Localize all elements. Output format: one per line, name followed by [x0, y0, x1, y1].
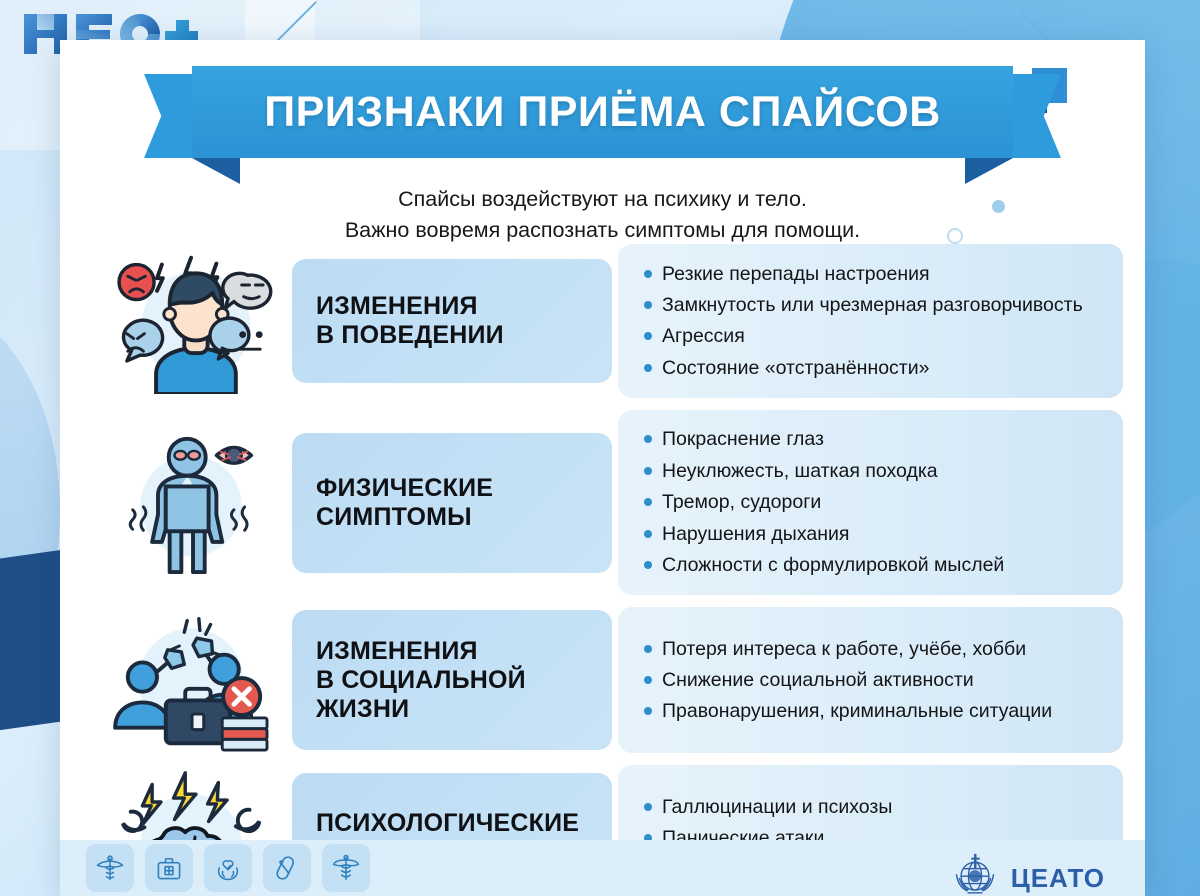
list-item-text: Замкнутость или чрезмерная разговорчивос… [662, 291, 1083, 319]
list-item: Неуклюжесть, шаткая походка [644, 455, 1105, 486]
list-item-text: Снижение социальной активности [662, 666, 974, 694]
list-item-text: Резкие перепады настроения [662, 260, 930, 288]
subtitle: Спайсы воздействуют на психику и тело. В… [60, 184, 1145, 245]
bullet-dot-icon [644, 803, 652, 811]
who-emblem-icon [949, 852, 1001, 896]
items-box-social: Потеря интереса к работе, учёбе, хобби С… [618, 607, 1123, 753]
section-row-behaviour: ИЗМЕНЕНИЯ В ПОВЕДЕНИИ Резкие перепады на… [96, 244, 1123, 398]
list-item-text: Тремор, судороги [662, 488, 821, 516]
footer-icon-strip [86, 844, 370, 892]
bullet-dot-icon [644, 467, 652, 475]
category-box-physical: ФИЗИЧЕСКИЕ СИМПТОМЫ [292, 433, 612, 573]
bullet-dot-icon [644, 707, 652, 715]
capsule-pill-icon [263, 844, 311, 892]
bullet-dot-icon [644, 270, 652, 278]
list-item: Состояние «отстранённости» [644, 352, 1105, 383]
list-item: Замкнутость или чрезмерная разговорчивос… [644, 289, 1105, 320]
broken-social-link-briefcase-icon [96, 607, 292, 753]
bullet-dot-icon [644, 645, 652, 653]
infographic-card: ПРИЗНАКИ ПРИЁМА СПАЙСОВ Спайсы воздейств… [60, 40, 1145, 896]
trembling-figure-red-eye-icon [96, 430, 292, 576]
bullet-dot-icon [644, 561, 652, 569]
list-item-text: Агрессия [662, 322, 745, 350]
subtitle-line-2: Важно вовремя распознать симптомы для по… [60, 215, 1145, 246]
sections-list: ИЗМЕНЕНИЯ В ПОВЕДЕНИИ Резкие перепады на… [96, 244, 1123, 896]
list-item-text: Сложности с формулировкой мыслей [662, 551, 1004, 579]
subtitle-line-1: Спайсы воздействуют на психику и тело. [60, 184, 1145, 215]
category-label: ФИЗИЧЕСКИЕ СИМПТОМЫ [316, 474, 493, 532]
list-item: Снижение социальной активности [644, 664, 1105, 695]
list-item-text: Галлюцинации и психозы [662, 793, 892, 821]
caduceus-icon [86, 844, 134, 892]
list-item-text: Неуклюжесть, шаткая походка [662, 457, 938, 485]
list-item-text: Потеря интереса к работе, учёбе, хобби [662, 635, 1026, 663]
bullet-dot-icon [644, 301, 652, 309]
list-item: Агрессия [644, 321, 1105, 352]
title-ribbon: ПРИЗНАКИ ПРИЁМА СПАЙСОВ [60, 66, 1145, 166]
who-logo: ЦЕАТО [949, 852, 1105, 896]
bullet-dot-icon [644, 332, 652, 340]
ribbon-fold-left [192, 158, 240, 184]
first-aid-kit-icon [145, 844, 193, 892]
ribbon-tail-left [144, 74, 192, 158]
list-item: Тремор, судороги [644, 487, 1105, 518]
category-box-behaviour: ИЗМЕНЕНИЯ В ПОВЕДЕНИИ [292, 259, 612, 383]
bullet-dot-icon [644, 530, 652, 538]
list-item-text: Нарушения дыхания [662, 520, 849, 548]
bullet-dot-icon [644, 435, 652, 443]
list-item: Сложности с формулировкой мыслей [644, 550, 1105, 581]
list-item: Галлюцинации и психозы [644, 791, 1105, 822]
footer-bar: ЦЕАТО [60, 840, 1145, 896]
list-item: Покраснение глаз [644, 424, 1105, 455]
category-label: ИЗМЕНЕНИЯ В ПОВЕДЕНИИ [316, 292, 504, 350]
bullet-dot-icon [644, 364, 652, 372]
who-label: ЦЕАТО [1011, 863, 1105, 894]
caduceus-wings-icon [322, 844, 370, 892]
list-item-text: Покраснение глаз [662, 425, 824, 453]
ribbon-body: ПРИЗНАКИ ПРИЁМА СПАЙСОВ [192, 66, 1013, 158]
list-item: Потеря интереса к работе, учёбе, хобби [644, 633, 1105, 664]
person-mood-swings-icon [96, 248, 292, 394]
category-box-social: ИЗМЕНЕНИЯ В СОЦИАЛЬНОЙ ЖИЗНИ [292, 610, 612, 750]
bullet-dot-icon [644, 498, 652, 506]
ribbon-fold-right [965, 158, 1013, 184]
list-item-text: Правонарушения, криминальные ситуации [662, 697, 1052, 725]
items-box-behaviour: Резкие перепады настроения Замкнутость и… [618, 244, 1123, 398]
bullet-dot-icon [644, 676, 652, 684]
section-row-physical: ФИЗИЧЕСКИЕ СИМПТОМЫ Покраснение глаз Неу… [96, 410, 1123, 595]
ribbon-tail-right [1013, 74, 1061, 158]
list-item: Резкие перепады настроения [644, 258, 1105, 289]
list-item: Нарушения дыхания [644, 518, 1105, 549]
page-title: ПРИЗНАКИ ПРИЁМА СПАЙСОВ [264, 88, 941, 137]
list-item-text: Состояние «отстранённости» [662, 354, 929, 382]
section-row-social: ИЗМЕНЕНИЯ В СОЦИАЛЬНОЙ ЖИЗНИ Потеря инте… [96, 607, 1123, 753]
heart-in-hands-icon [204, 844, 252, 892]
items-box-physical: Покраснение глаз Неуклюжесть, шаткая пох… [618, 410, 1123, 595]
category-label: ИЗМЕНЕНИЯ В СОЦИАЛЬНОЙ ЖИЗНИ [316, 637, 526, 724]
list-item: Правонарушения, криминальные ситуации [644, 696, 1105, 727]
